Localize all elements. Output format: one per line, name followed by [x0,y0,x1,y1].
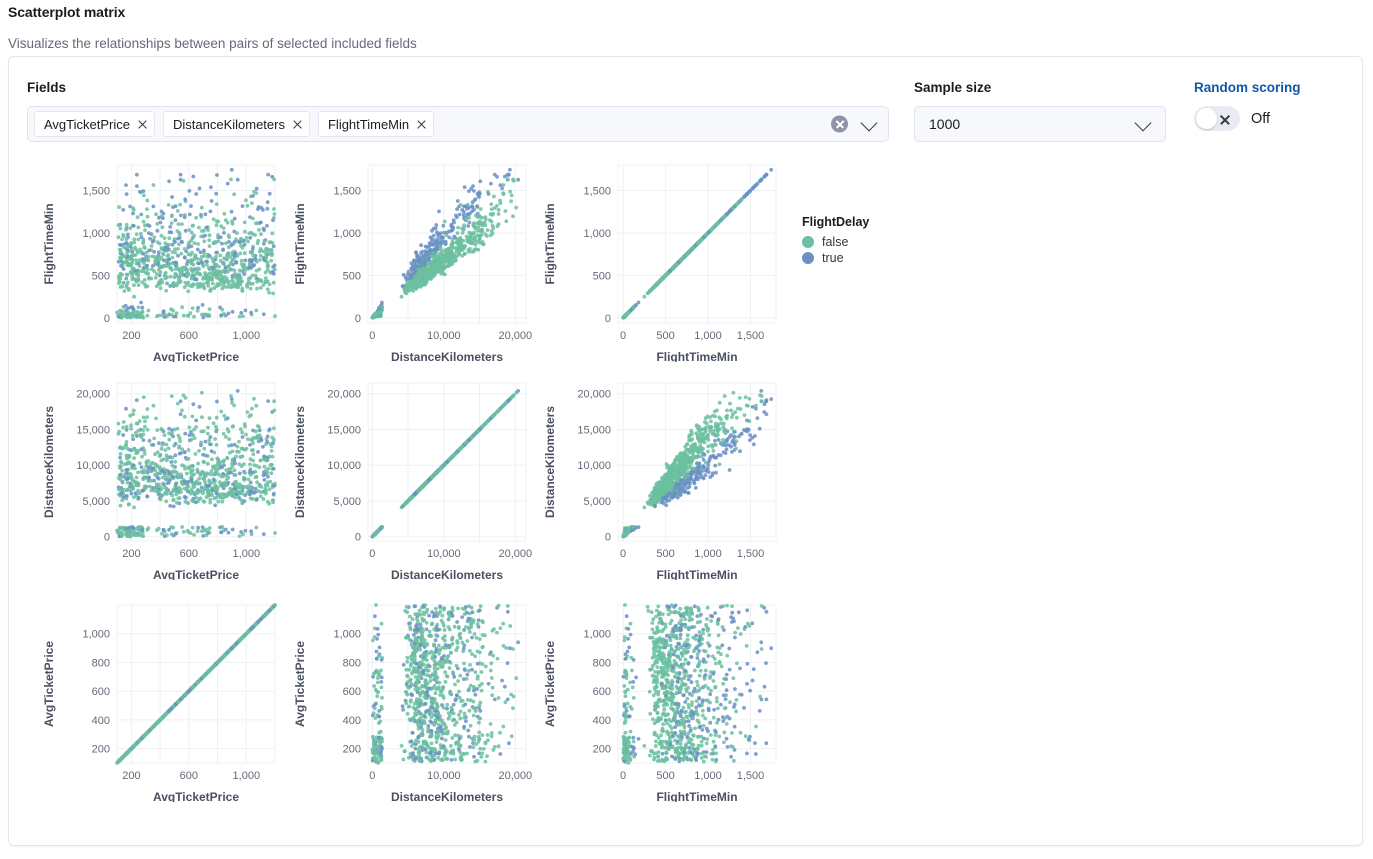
svg-text:0: 0 [355,313,361,325]
field-pill-label: AvgTicketPrice [44,117,130,132]
scatter-cell-svg: 2006001,0002004006008001,000AvgTicketPri… [31,597,281,802]
svg-text:500: 500 [656,330,674,342]
scatter-points [371,603,521,765]
scatter-points [371,389,521,539]
svg-text:0: 0 [620,330,626,342]
svg-text:500: 500 [92,270,110,282]
chevron-down-icon[interactable] [1135,115,1152,132]
fields-control: Fields AvgTicketPrice DistanceKilometers… [27,80,889,142]
field-pill-label: DistanceKilometers [173,117,285,132]
field-pill[interactable]: FlightTimeMin [318,111,434,137]
svg-text:1,000: 1,000 [694,330,722,342]
svg-text:1,000: 1,000 [233,548,261,560]
field-pill[interactable]: AvgTicketPrice [34,111,155,137]
svg-text:0: 0 [369,330,375,342]
toggle-knob [1196,108,1217,129]
scatter-cell[interactable]: 2006001,00005,00010,00015,00020,000AvgTi… [31,375,281,580]
close-icon [1219,114,1230,125]
legend-swatch [802,236,814,248]
sample-size-label: Sample size [914,80,1166,95]
scatter-cell[interactable]: 010,00020,00005001,0001,500DistanceKilom… [282,157,532,362]
legend: FlightDelay false true [802,215,972,267]
scatter-points [115,389,277,539]
svg-text:AvgTicketPrice: AvgTicketPrice [153,568,239,580]
scatter-cell-svg: 2006001,00005,00010,00015,00020,000AvgTi… [31,375,281,580]
legend-item-label: false [822,235,848,249]
svg-text:1,500: 1,500 [583,186,611,198]
legend-title: FlightDelay [802,215,972,229]
legend-item-label: true [822,251,844,265]
scatterplot-matrix-panel: Fields AvgTicketPrice DistanceKilometers… [8,56,1363,846]
svg-text:500: 500 [343,270,361,282]
svg-text:200: 200 [122,548,140,560]
svg-text:AvgTicketPrice: AvgTicketPrice [153,350,239,362]
svg-text:600: 600 [180,548,198,560]
svg-text:1,000: 1,000 [233,330,261,342]
svg-text:10,000: 10,000 [427,330,461,342]
scatter-cell-svg: 010,00020,0002004006008001,000DistanceKi… [282,597,532,802]
svg-text:0: 0 [605,313,611,325]
scatter-cell[interactable]: 010,00020,0002004006008001,000DistanceKi… [282,597,532,802]
svg-text:FlightTimeMin: FlightTimeMin [293,203,307,284]
svg-text:1,000: 1,000 [333,228,361,240]
clear-fields-icon[interactable] [831,116,848,133]
scatterplot-matrix-page: Scatterplot matrix Visualizes the relati… [0,0,1373,859]
scatter-cell[interactable]: 05001,0001,5002004006008001,000FlightTim… [532,597,782,802]
svg-text:DistanceKilometers: DistanceKilometers [391,350,503,362]
fields-combobox[interactable]: AvgTicketPrice DistanceKilometers Flight… [27,106,889,142]
field-pill-label: FlightTimeMin [328,117,409,132]
svg-text:FlightTimeMin: FlightTimeMin [656,350,737,362]
svg-text:DistanceKilometers: DistanceKilometers [42,406,56,518]
scatter-cell-svg: 2006001,00005001,0001,500AvgTicketPriceF… [31,157,281,362]
sample-size-select[interactable]: 1000 [914,106,1166,142]
svg-text:200: 200 [122,330,140,342]
remove-field-icon[interactable] [137,119,147,129]
svg-text:FlightTimeMin: FlightTimeMin [42,203,56,284]
svg-text:1,000: 1,000 [82,228,110,240]
random-scoring-toggle[interactable] [1194,106,1240,131]
scatter-cell[interactable]: 2006001,0002004006008001,000AvgTicketPri… [31,597,281,802]
fields-label: Fields [27,80,889,95]
scatter-points [115,603,277,765]
svg-text:0: 0 [104,313,110,325]
scatter-cell-svg: 05001,0001,5002004006008001,000FlightTim… [532,597,782,802]
legend-item[interactable]: false [802,235,972,249]
svg-text:1,000: 1,000 [583,228,611,240]
page-title: Scatterplot matrix [8,4,125,20]
svg-text:1,500: 1,500 [333,186,361,198]
svg-text:1,500: 1,500 [82,186,110,198]
scatter-cell[interactable]: 05001,0001,50005001,0001,500FlightTimeMi… [532,157,782,362]
field-pill[interactable]: DistanceKilometers [163,111,310,137]
svg-text:0: 0 [104,532,110,544]
svg-text:600: 600 [180,330,198,342]
random-scoring-label[interactable]: Random scoring [1194,80,1301,95]
svg-text:20,000: 20,000 [498,330,532,342]
scatter-cell[interactable]: 2006001,00005001,0001,500AvgTicketPriceF… [31,157,281,362]
scatterplot-matrix-grid: 2006001,00005001,0001,500AvgTicketPriceF… [23,157,793,837]
scatter-cell-svg: 010,00020,00005001,0001,500DistanceKilom… [282,157,532,362]
random-scoring-control: Random scoring Off [1194,80,1301,131]
legend-swatch [802,252,814,264]
svg-text:10,000: 10,000 [76,460,110,472]
chevron-down-icon[interactable] [861,115,878,132]
scatter-cell-svg: 05001,0001,50005001,0001,500FlightTimeMi… [532,157,782,362]
page-subtitle: Visualizes the relationships between pai… [8,36,417,51]
scatter-cell-svg: 010,00020,00005,00010,00015,00020,000Dis… [282,375,532,580]
svg-text:5,000: 5,000 [82,496,110,508]
svg-text:500: 500 [593,270,611,282]
random-scoring-state: Off [1251,111,1270,127]
scatter-cell[interactable]: 010,00020,00005,00010,00015,00020,000Dis… [282,375,532,580]
legend-item[interactable]: true [802,251,972,265]
svg-text:15,000: 15,000 [76,425,110,437]
remove-field-icon[interactable] [416,119,426,129]
sample-size-value: 1000 [929,116,960,132]
svg-text:20,000: 20,000 [76,389,110,401]
remove-field-icon[interactable] [292,119,302,129]
svg-text:1,500: 1,500 [737,330,765,342]
scatter-cell[interactable]: 05001,0001,50005,00010,00015,00020,000Fl… [532,375,782,580]
svg-text:FlightTimeMin: FlightTimeMin [543,203,557,284]
scatter-cell-svg: 05001,0001,50005,00010,00015,00020,000Fl… [532,375,782,580]
sample-size-control: Sample size 1000 [914,80,1166,142]
